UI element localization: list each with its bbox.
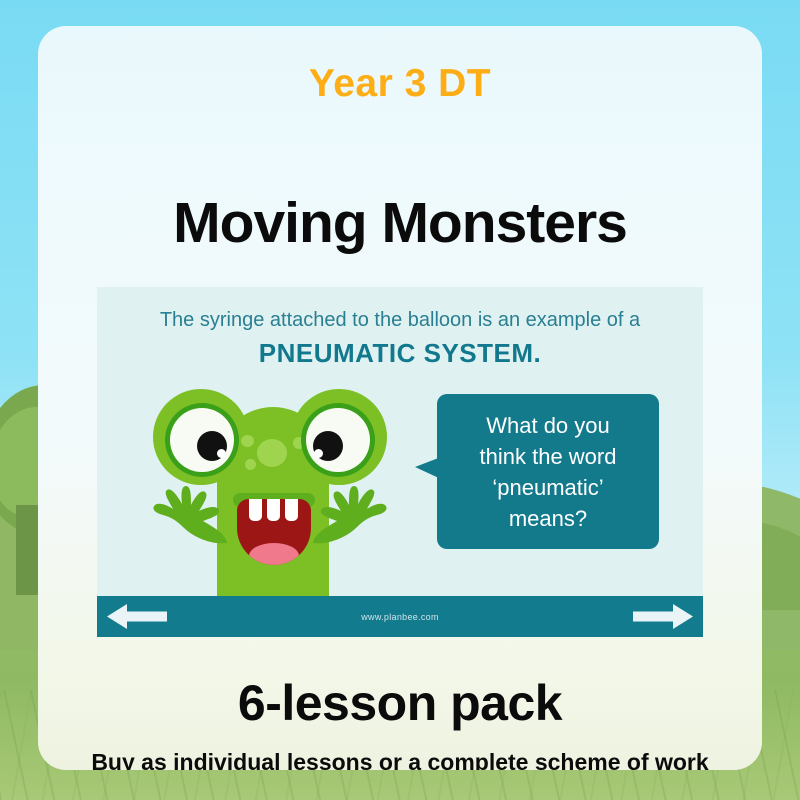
speech-bubble-line-4: means? [509,503,587,534]
product-card-screenshot: Year 3 DT Moving Monsters The syringe at… [0,0,800,800]
lesson-pack-label: 6-lesson pack [38,674,762,732]
slide-preview[interactable]: The syringe attached to the balloon is a… [97,287,703,637]
previous-slide-button[interactable] [107,603,167,630]
monster-hand-left [149,483,231,549]
slide-navbar: www.planbee.com [97,596,703,637]
next-slide-button[interactable] [633,603,693,630]
subject-year-label: Year 3 DT [38,62,762,106]
speech-bubble-line-1: What do you [486,410,610,441]
purchase-subtitle: Buy as individual lessons or a complete … [38,749,762,770]
slide-text-line-1: The syringe attached to the balloon is a… [97,309,703,332]
speech-bubble: What do you think the word ‘pneumatic’ m… [437,394,659,549]
watermark-url: www.planbee.com [97,596,703,637]
arrow-right-icon [633,603,693,630]
page-title: Moving Monsters [38,190,762,256]
product-card: Year 3 DT Moving Monsters The syringe at… [38,26,762,770]
arrow-left-icon [107,603,167,630]
speech-bubble-line-3: ‘pneumatic’ [492,472,603,503]
monster-hand-right [309,483,391,549]
speech-bubble-line-2: think the word [480,441,617,472]
slide-text-line-2: PNEUMATIC SYSTEM. [97,338,703,369]
